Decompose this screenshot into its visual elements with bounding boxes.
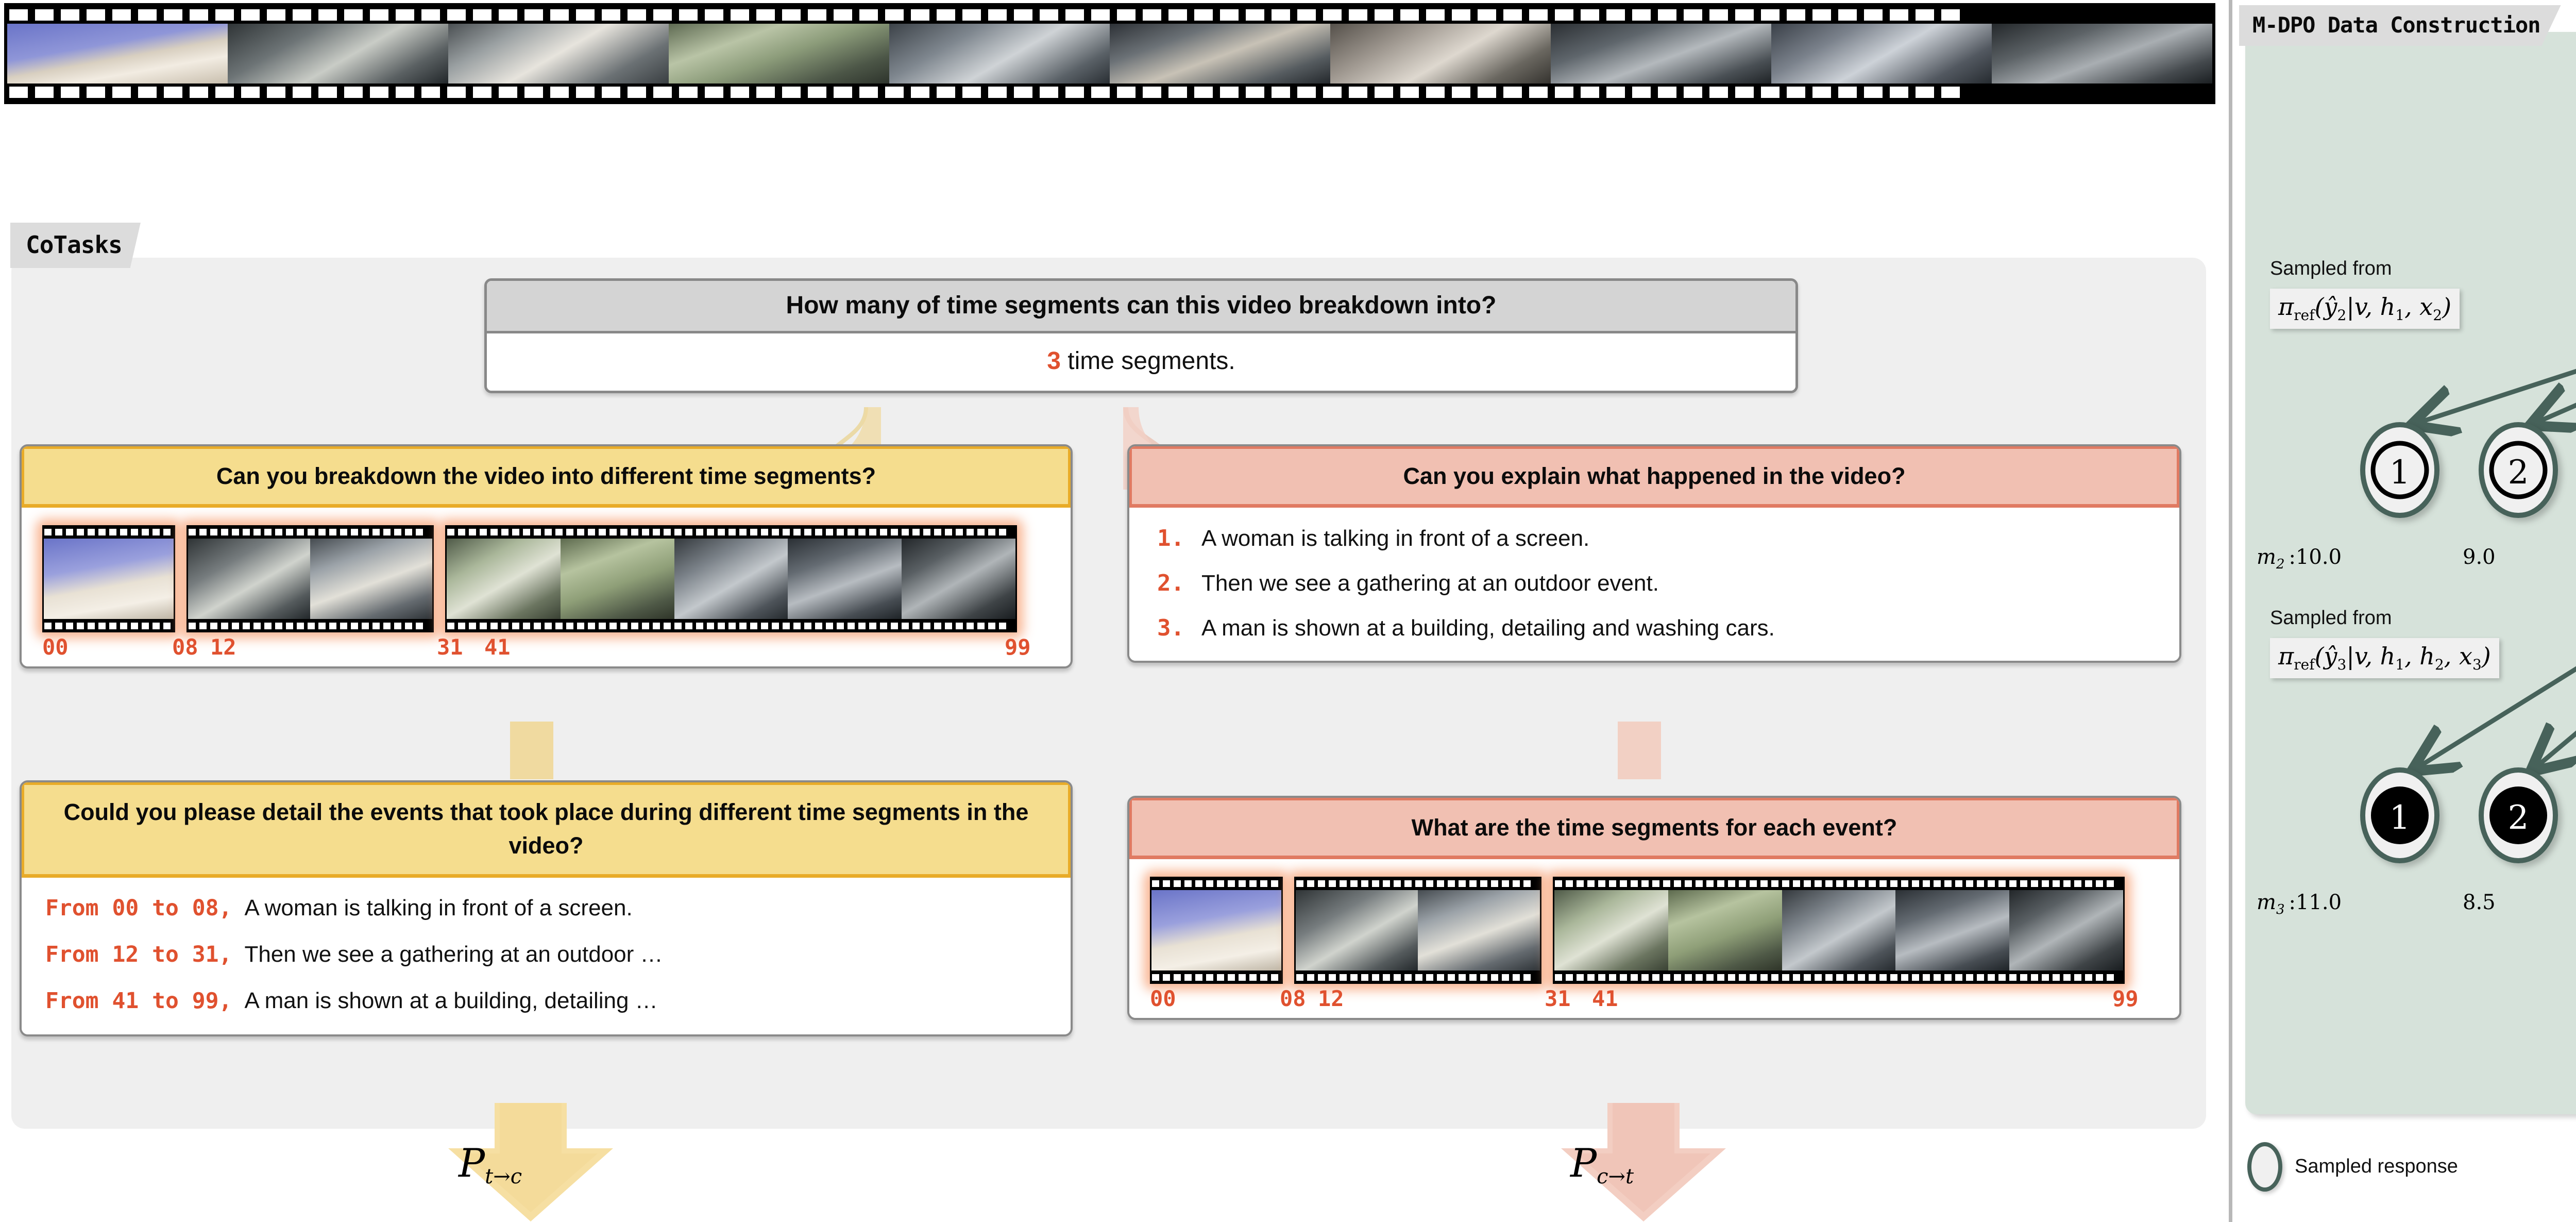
perforation — [318, 9, 337, 21]
perforation — [782, 87, 801, 98]
perforation — [988, 623, 995, 629]
m3-symbol: m3 — [2257, 891, 2284, 914]
perforation — [1581, 87, 1599, 98]
list-item: 1. A woman is talking in front of a scre… — [1157, 525, 2151, 551]
perforation — [772, 529, 779, 535]
perforation — [808, 9, 826, 21]
perforation — [628, 87, 646, 98]
mdpo-panel: M-DPO Data Construction v h₁ h₂ — [2225, 0, 2576, 1222]
perforation — [447, 623, 454, 629]
perforation — [1091, 87, 1110, 98]
perforation — [199, 623, 207, 629]
perforation — [1502, 880, 1509, 887]
perforation — [642, 623, 649, 629]
perforation — [1696, 880, 1703, 887]
perforation — [66, 623, 73, 629]
perforation — [2020, 880, 2027, 887]
perforation — [826, 623, 833, 629]
perforation — [1709, 87, 1728, 98]
perforation — [2096, 974, 2103, 981]
perforation — [934, 623, 941, 629]
perforation — [642, 529, 649, 535]
cotasks-panel: CoTasks How many of time segments can th… — [0, 0, 2225, 1222]
perforation — [988, 529, 995, 535]
perforation — [1415, 880, 1422, 887]
perforation — [1513, 880, 1520, 887]
perforation — [705, 9, 723, 21]
perforation — [1606, 87, 1625, 98]
perforation — [1598, 974, 1605, 981]
perforation — [1901, 974, 1908, 981]
perforation — [1977, 974, 1984, 981]
perforation — [2085, 880, 2092, 887]
perforation — [1448, 974, 1455, 981]
clip-frame — [447, 539, 561, 619]
perforation — [1641, 974, 1649, 981]
perforation — [1350, 880, 1358, 887]
perforation — [383, 623, 391, 629]
perforation — [286, 529, 293, 535]
response-node-1-filled-label: 1 — [2389, 799, 2411, 837]
perforation — [524, 9, 543, 21]
perforation — [1513, 974, 1520, 981]
perforation — [131, 623, 138, 629]
perforation — [988, 9, 1007, 21]
perforation — [967, 623, 974, 629]
perforation — [362, 623, 369, 629]
time-desc: A man is shown at a building, detailing … — [244, 988, 657, 1014]
perforation — [1502, 974, 1509, 981]
perforation — [138, 9, 157, 21]
perforation — [1529, 87, 1548, 98]
perforation — [834, 9, 852, 21]
perforation — [1404, 974, 1412, 981]
perforation — [344, 9, 363, 21]
mdpo-title-tag: M-DPO Data Construction — [2239, 5, 2561, 46]
perforation — [902, 529, 909, 535]
perforation — [55, 623, 62, 629]
perforation — [2074, 974, 2081, 981]
perforation — [1394, 974, 1401, 981]
perforation — [1864, 9, 1883, 21]
perforation — [1869, 880, 1876, 887]
perforation — [490, 529, 498, 535]
perforation — [1685, 974, 1692, 981]
perforation — [664, 623, 671, 629]
perforation — [1566, 880, 1573, 887]
perforation — [1631, 974, 1638, 981]
perforation — [1632, 9, 1651, 21]
perforation — [815, 623, 822, 629]
perforation — [609, 529, 617, 535]
perforation — [1297, 87, 1316, 98]
perforation — [372, 529, 380, 535]
perforation — [372, 623, 380, 629]
perforation — [1988, 880, 1995, 887]
perforation — [1923, 974, 1930, 981]
list-text: A woman is talking in front of a screen. — [1201, 526, 1589, 551]
perforation — [1685, 880, 1692, 887]
perforation — [1782, 974, 1789, 981]
card-detail-events-body: From 00 to 08, A woman is talking in fro… — [22, 878, 1071, 1034]
perforation — [923, 529, 930, 535]
perforation — [937, 87, 955, 98]
perforation — [912, 623, 920, 629]
clip-frame — [1895, 890, 2009, 970]
time-entry: From 41 to 99, A man is shown at a build… — [45, 988, 1047, 1014]
perforation — [1609, 974, 1616, 981]
perforation — [1641, 880, 1649, 887]
clip-frame — [1668, 890, 1782, 970]
perforation — [1717, 974, 1724, 981]
perforation — [1787, 9, 1805, 21]
perforation — [1890, 87, 1908, 98]
perforation — [308, 529, 315, 535]
perforation — [458, 529, 465, 535]
perforation — [329, 623, 336, 629]
perforation — [1663, 974, 1670, 981]
perforation — [512, 623, 519, 629]
perforation — [1555, 880, 1562, 887]
perforation — [1577, 880, 1584, 887]
perforation — [1249, 880, 1257, 887]
perforation — [152, 623, 160, 629]
perforation — [1696, 974, 1703, 981]
perforation — [1555, 9, 1573, 21]
perforation — [911, 87, 929, 98]
perforation — [523, 623, 530, 629]
m2-symbol: m2 — [2257, 545, 2284, 569]
perforation — [1620, 974, 1627, 981]
perforation — [977, 623, 985, 629]
perforation — [1480, 880, 1487, 887]
perforation — [718, 623, 725, 629]
perforation — [891, 529, 898, 535]
perforation — [628, 9, 646, 21]
legend-swatch-white-ellipse-icon — [2247, 1142, 2282, 1192]
perforation — [77, 623, 84, 629]
perforation — [1815, 880, 1822, 887]
perforation — [956, 529, 963, 535]
time-range: From 12 to 31, — [45, 942, 232, 967]
perforation — [215, 9, 234, 21]
perforation — [1260, 974, 1267, 981]
perforation — [750, 623, 757, 629]
film-frame-10 — [1992, 24, 2212, 83]
perforation — [674, 529, 682, 535]
perforation — [534, 529, 541, 535]
perforation — [1916, 87, 1934, 98]
perforation — [1415, 974, 1422, 981]
perforation — [602, 9, 620, 21]
list-index: 1. — [1157, 525, 1201, 551]
perforation — [848, 529, 855, 535]
perforation — [1934, 880, 1941, 887]
perforation — [934, 529, 941, 535]
perforation — [490, 623, 498, 629]
perforation — [1174, 974, 1181, 981]
response-node-1-label: 1 — [2389, 454, 2411, 492]
perforation — [1349, 9, 1367, 21]
perforation — [1944, 974, 1952, 981]
perforation — [1117, 87, 1136, 98]
perforation — [739, 623, 747, 629]
perforation — [1404, 880, 1412, 887]
clip-frame — [1782, 890, 1896, 970]
perforation — [956, 623, 963, 629]
time-entry: From 12 to 31, Then we see a gathering a… — [45, 942, 1047, 967]
filmstrip-perforations-bottom — [4, 86, 2215, 99]
perforation — [1998, 974, 2006, 981]
perforation — [2107, 974, 2114, 981]
perforation — [2020, 974, 2027, 981]
segment-clip-3 — [1553, 877, 2125, 984]
perforation — [707, 623, 714, 629]
perforation — [512, 529, 519, 535]
perforation — [967, 529, 974, 535]
perforation — [1152, 974, 1159, 981]
film-frame-4 — [669, 24, 889, 83]
clip-frame — [1296, 890, 1418, 970]
perforation — [1879, 974, 1887, 981]
perforation — [728, 623, 736, 629]
perforation — [2042, 880, 2049, 887]
perforation — [1272, 9, 1290, 21]
connector-yellow-vertical — [510, 722, 553, 779]
score-label-row-2: m3 :11.0 — [2257, 891, 2342, 917]
score-value-row1-2: 9.0 — [2463, 545, 2496, 569]
perforation — [2031, 880, 2038, 887]
perforation — [609, 623, 617, 629]
perforation — [1372, 880, 1379, 887]
perforation — [210, 623, 217, 629]
perforation — [394, 623, 401, 629]
perforation — [1782, 880, 1789, 887]
perforation — [1890, 9, 1908, 21]
film-frame-2 — [228, 24, 448, 83]
perforation — [1858, 880, 1865, 887]
perforation — [1246, 9, 1264, 21]
perforation — [705, 87, 723, 98]
perforation — [232, 623, 239, 629]
perforation — [2009, 974, 2016, 981]
perforation — [253, 529, 261, 535]
clip-frame — [788, 539, 902, 619]
perforation — [1787, 87, 1805, 98]
perforation — [264, 529, 272, 535]
perforation — [189, 529, 196, 535]
perforation — [566, 623, 573, 629]
perforation — [848, 623, 855, 629]
cotasks-section-tag: CoTasks — [10, 223, 141, 268]
perforation — [1750, 880, 1757, 887]
perforation — [885, 87, 904, 98]
perforation — [1750, 974, 1757, 981]
perforation — [120, 623, 127, 629]
perforation — [1503, 87, 1522, 98]
perforation — [1437, 880, 1444, 887]
perforation — [761, 623, 768, 629]
perforation — [756, 9, 775, 21]
answer-suffix: time segments. — [1061, 347, 1235, 375]
segment-clip-1 — [42, 525, 175, 632]
perforation — [1323, 87, 1342, 98]
perforation — [1581, 9, 1599, 21]
perforation — [109, 623, 116, 629]
perforation — [837, 623, 844, 629]
perforation — [631, 529, 638, 535]
perforation — [190, 9, 208, 21]
perforation — [1941, 87, 1960, 98]
perforation — [1864, 87, 1883, 98]
perforation — [1529, 9, 1548, 21]
perforation — [576, 87, 595, 98]
perforation — [902, 623, 909, 629]
perforation — [945, 623, 952, 629]
perforation — [189, 623, 196, 629]
connector-red-vertical — [1618, 722, 1661, 779]
perforation — [685, 529, 692, 535]
perforation — [1609, 880, 1616, 887]
perforation — [772, 623, 779, 629]
perforation — [164, 9, 182, 21]
legend-item-sampled: Sampled response — [2247, 1142, 2458, 1192]
arrow-subscript: c→t — [1597, 1165, 1634, 1188]
perforation — [1847, 880, 1854, 887]
perforation — [1426, 974, 1433, 981]
perforation — [1195, 974, 1202, 981]
film-frame-8 — [1551, 24, 1771, 83]
perforation — [1228, 880, 1235, 887]
perforation — [447, 87, 466, 98]
tick-31: 31 — [437, 634, 463, 660]
perforation — [739, 529, 747, 535]
perforation — [1040, 9, 1058, 21]
perforation — [1297, 9, 1316, 21]
perforation — [999, 529, 1006, 535]
perforation — [2053, 880, 2060, 887]
perforation — [602, 87, 620, 98]
clip-frame — [44, 539, 174, 619]
perforation — [416, 529, 423, 535]
perforation — [1194, 87, 1213, 98]
script-p-symbol: P — [459, 1140, 485, 1186]
perforation — [275, 529, 282, 535]
perforation — [1426, 87, 1445, 98]
perforation — [599, 623, 606, 629]
perforation — [550, 9, 569, 21]
mdpo-graph: v h₁ h₂ h₃ 1 2 nₛ 1 2 nₛ — [2245, 32, 2576, 1114]
perforation — [88, 623, 95, 629]
perforation — [523, 529, 530, 535]
perforation — [550, 87, 569, 98]
score-label-row-1: m2 :10.0 — [2257, 545, 2342, 572]
card-explain[interactable]: Can you explain what happened in the vid… — [1127, 444, 2181, 663]
clip-frame — [1418, 890, 1540, 970]
perforation — [405, 623, 412, 629]
perforation — [112, 87, 131, 98]
perforation — [653, 529, 660, 535]
perforation — [1349, 87, 1367, 98]
perforation — [2063, 974, 2071, 981]
card-time-segments-body: 00 08 12 31 41 99 — [1129, 859, 2179, 1018]
perforation — [880, 529, 887, 535]
perforation — [232, 529, 239, 535]
card-time-segments[interactable]: What are the time segments for each even… — [1127, 796, 2181, 1020]
segment-clip-2 — [1294, 877, 1541, 984]
perforation — [1469, 974, 1477, 981]
perforation — [293, 9, 311, 21]
perforation — [1587, 974, 1595, 981]
segment-clip-3 — [445, 525, 1017, 632]
perforation — [1329, 880, 1336, 887]
perforation — [109, 529, 116, 535]
perforation — [2053, 974, 2060, 981]
perforation — [199, 529, 207, 535]
perforation — [1206, 974, 1213, 981]
perforation — [1825, 880, 1833, 887]
perforation — [804, 623, 811, 629]
perforation — [1966, 974, 1973, 981]
perforation — [120, 529, 127, 535]
perforation — [329, 529, 336, 535]
perforation — [1469, 880, 1477, 887]
tick-31: 31 — [1545, 986, 1571, 1011]
top-question-card: How many of time segments can this video… — [484, 278, 1798, 393]
filmstrip-perforations-top — [4, 8, 2215, 22]
clip-frame — [1554, 890, 1668, 970]
perforation — [1735, 87, 1754, 98]
perforation — [1400, 9, 1419, 21]
perforation — [1437, 974, 1444, 981]
perforation — [834, 87, 852, 98]
video-filmstrip-banner — [4, 3, 2215, 104]
perforation — [1383, 880, 1390, 887]
perforation — [1491, 880, 1498, 887]
card-explain-question: Can you explain what happened in the vid… — [1129, 446, 2179, 508]
perforation — [1246, 87, 1264, 98]
perforation — [370, 9, 388, 21]
perforation — [66, 529, 73, 535]
perforation — [869, 623, 876, 629]
perforation — [351, 529, 358, 535]
perforation — [1307, 880, 1314, 887]
perforation — [937, 9, 955, 21]
perforation — [1944, 880, 1952, 887]
perforation — [696, 623, 703, 629]
clip-frame — [188, 539, 310, 619]
film-frame-1 — [7, 24, 228, 83]
perforation — [131, 529, 138, 535]
perforation — [221, 623, 228, 629]
perforation — [782, 9, 801, 21]
perforation — [1793, 880, 1800, 887]
perforation — [1329, 974, 1336, 981]
clip-frame — [2009, 890, 2123, 970]
time-desc: Then we see a gathering at an outdoor … — [244, 942, 663, 967]
arrow-t-to-c — [422, 1103, 639, 1221]
card-breakdown[interactable]: Can you breakdown the video into differe… — [20, 444, 1073, 668]
card-detail-events[interactable]: Could you please detail the events that … — [20, 780, 1073, 1036]
perforation — [473, 9, 492, 21]
perforation — [1620, 880, 1627, 887]
perforation — [340, 529, 347, 535]
filmstrip-frames — [7, 24, 2212, 83]
perforation — [241, 87, 260, 98]
perforation — [653, 623, 660, 629]
perforation — [1728, 974, 1735, 981]
perforation — [988, 87, 1007, 98]
